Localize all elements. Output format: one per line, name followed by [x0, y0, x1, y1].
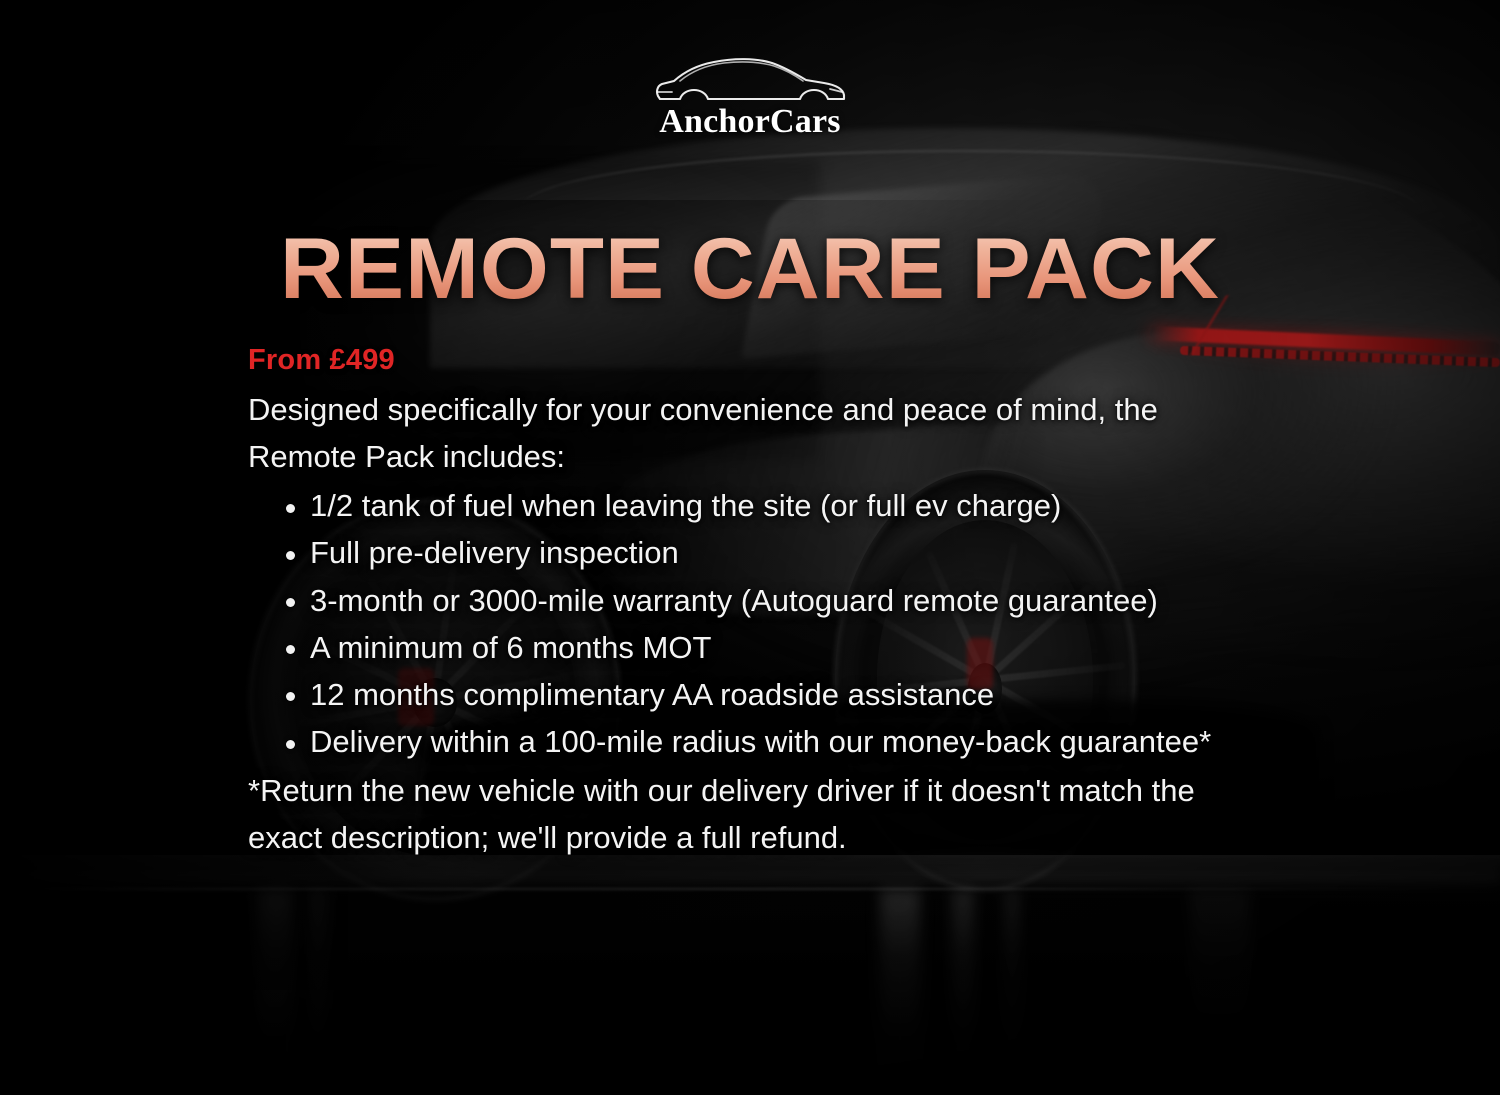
bullet-icon [286, 598, 295, 607]
list-item-label: Delivery within a 100-mile radius with o… [310, 724, 1211, 759]
bullet-icon [286, 551, 295, 560]
list-item-label: 3-month or 3000-mile warranty (Autoguard… [310, 583, 1158, 618]
remote-care-pack-poster: AnchorCars REMOTE CARE PACK From £499 De… [0, 0, 1500, 1095]
list-item-label: A minimum of 6 months MOT [310, 630, 711, 665]
list-item-label: 12 months complimentary AA roadside assi… [310, 677, 994, 712]
bullet-icon [286, 645, 295, 654]
car-silhouette-icon [650, 52, 850, 108]
footnote-text: *Return the new vehicle with our deliver… [248, 767, 1258, 861]
list-item-label: 1/2 tank of fuel when leaving the site (… [310, 488, 1061, 523]
brand-logo-text: AnchorCars [659, 105, 840, 139]
list-item: Delivery within a 100-mile radius with o… [248, 718, 1258, 765]
bullet-icon [286, 504, 295, 513]
bullet-icon [286, 692, 295, 701]
list-item: 12 months complimentary AA roadside assi… [248, 671, 1258, 718]
pack-description: From £499 Designed specifically for your… [248, 338, 1258, 861]
brand-logo: AnchorCars [0, 52, 1500, 139]
bullet-icon [286, 740, 295, 749]
price-label: From £499 [248, 338, 1258, 382]
list-item: 1/2 tank of fuel when leaving the site (… [248, 482, 1258, 529]
list-item: A minimum of 6 months MOT [248, 624, 1258, 671]
list-item: Full pre-delivery inspection [248, 529, 1258, 576]
intro-paragraph: Designed specifically for your convenien… [248, 386, 1258, 480]
page-title: REMOTE CARE PACK [0, 226, 1500, 312]
list-item-label: Full pre-delivery inspection [310, 535, 679, 570]
list-item: 3-month or 3000-mile warranty (Autoguard… [248, 577, 1258, 624]
features-list: 1/2 tank of fuel when leaving the site (… [248, 482, 1258, 765]
